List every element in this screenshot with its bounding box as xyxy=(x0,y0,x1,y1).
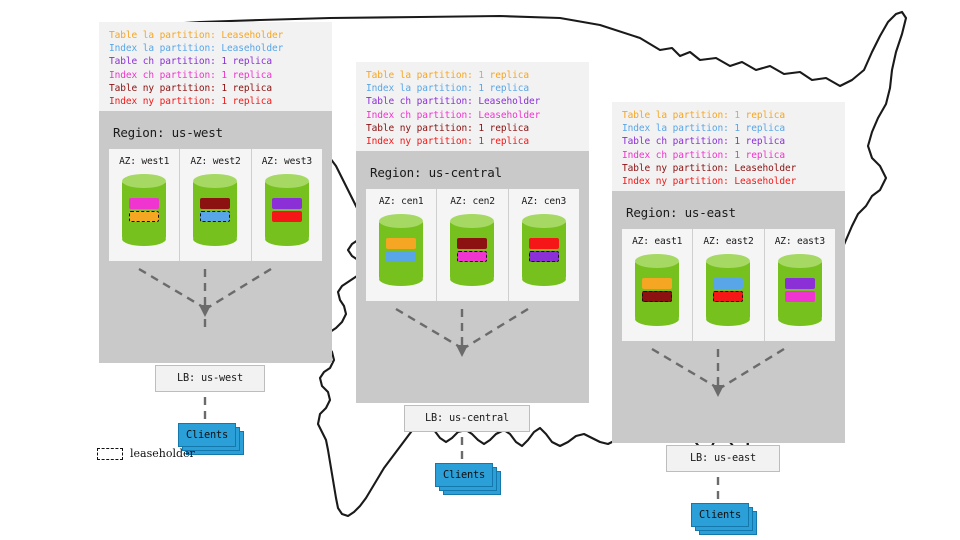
clients-box[interactable]: Clients xyxy=(691,503,749,527)
partition-stripe xyxy=(642,278,672,289)
az-cell-west3[interactable]: AZ: west3 xyxy=(252,149,322,261)
partition-stripe-leaseholder xyxy=(642,291,672,302)
region-box-us-central: Region: us-central AZ: cen1 AZ: cen2 xyxy=(356,151,589,403)
partition-stripe xyxy=(386,238,416,249)
az-strip-us-east: AZ: east1 AZ: east2 AZ: east3 xyxy=(622,229,835,341)
load-balancer-us-west[interactable]: LB: us-west xyxy=(155,365,265,392)
partition-stripe xyxy=(129,198,159,209)
connectors-us-central xyxy=(356,301,569,371)
az-strip-us-west: AZ: west1 AZ: west2 AZ: west3 xyxy=(109,149,322,261)
legend-line: Index la partition: Leaseholder xyxy=(109,42,322,55)
edge-az1-to-lb xyxy=(652,349,716,387)
region-title: Region: us-central xyxy=(366,161,579,189)
database-cylinder[interactable] xyxy=(122,174,166,246)
arrowhead-lb xyxy=(199,305,211,317)
clients-box[interactable]: Clients xyxy=(435,463,493,487)
region-cluster-us-east: Table la partition: 1 replica Index la p… xyxy=(612,102,845,443)
az-cell-cen1[interactable]: AZ: cen1 xyxy=(366,189,437,301)
region-box-us-west: Region: us-west AZ: west1 AZ: west2 xyxy=(99,111,332,363)
database-cylinder[interactable] xyxy=(379,214,423,286)
az-cell-west1[interactable]: AZ: west1 xyxy=(109,149,180,261)
legend-panel-us-east: Table la partition: 1 replica Index la p… xyxy=(612,102,845,191)
partition-stripe xyxy=(785,278,815,289)
database-cylinder[interactable] xyxy=(265,174,309,246)
clients-stack-us-central[interactable]: Clients xyxy=(435,463,501,493)
partition-stripes xyxy=(635,254,679,326)
az-cell-cen2[interactable]: AZ: cen2 xyxy=(437,189,508,301)
partition-stripe-leaseholder xyxy=(529,251,559,262)
edge-az1-to-lb xyxy=(396,309,460,347)
legend-line: Table ch partition: Leaseholder xyxy=(366,95,579,108)
az-label: AZ: west1 xyxy=(119,156,169,167)
partition-stripes xyxy=(706,254,750,326)
legend-line: Table la partition: 1 replica xyxy=(622,109,835,122)
region-box-us-east: Region: us-east AZ: east1 AZ: east2 xyxy=(612,191,845,443)
database-cylinder[interactable] xyxy=(522,214,566,286)
legend-line: Table la partition: 1 replica xyxy=(366,69,579,82)
partition-stripes xyxy=(265,174,309,246)
partition-stripes xyxy=(778,254,822,326)
legend-line: Index la partition: 1 replica xyxy=(622,122,835,135)
region-cluster-us-central: Table la partition: 1 replica Index la p… xyxy=(356,62,589,403)
arrowhead-lb xyxy=(456,345,468,357)
partition-stripe-leaseholder xyxy=(457,251,487,262)
connectors-us-east xyxy=(612,341,825,411)
region-title: Region: us-east xyxy=(622,201,835,229)
edge-az1-to-lb xyxy=(139,269,203,307)
legend-line: Index ny partition: Leaseholder xyxy=(622,175,835,188)
connectors-us-west xyxy=(99,261,312,331)
az-cell-east1[interactable]: AZ: east1 xyxy=(622,229,693,341)
partition-stripes xyxy=(450,214,494,286)
partition-stripe xyxy=(529,238,559,249)
az-label: AZ: west2 xyxy=(190,156,240,167)
clients-box[interactable]: Clients xyxy=(178,423,236,447)
az-label: AZ: cen3 xyxy=(522,196,567,207)
legend-line: Index ny partition: 1 replica xyxy=(366,135,579,148)
legend-line: Table ch partition: 1 replica xyxy=(109,55,322,68)
edge-az3-to-lb xyxy=(209,269,271,307)
database-cylinder[interactable] xyxy=(450,214,494,286)
partition-stripes xyxy=(122,174,166,246)
az-cell-west2[interactable]: AZ: west2 xyxy=(180,149,251,261)
legend-line: Index ny partition: 1 replica xyxy=(109,95,322,108)
legend-line: Table ny partition: 1 replica xyxy=(366,122,579,135)
partition-stripe xyxy=(785,291,815,302)
az-cell-east2[interactable]: AZ: east2 xyxy=(693,229,764,341)
partition-stripe-leaseholder xyxy=(129,211,159,222)
legend-line: Index ch partition: 1 replica xyxy=(622,149,835,162)
partition-stripe xyxy=(457,238,487,249)
database-cylinder[interactable] xyxy=(635,254,679,326)
az-cell-east3[interactable]: AZ: east3 xyxy=(765,229,835,341)
region-title: Region: us-west xyxy=(109,121,322,149)
database-cylinder[interactable] xyxy=(193,174,237,246)
az-cell-cen3[interactable]: AZ: cen3 xyxy=(509,189,579,301)
database-cylinder[interactable] xyxy=(778,254,822,326)
partition-stripe xyxy=(386,251,416,262)
az-strip-us-central: AZ: cen1 AZ: cen2 AZ: cen3 xyxy=(366,189,579,301)
legend-line: Table ny partition: 1 replica xyxy=(109,82,322,95)
az-label: AZ: cen1 xyxy=(379,196,424,207)
leaseholder-swatch-icon xyxy=(97,448,123,460)
az-label: AZ: east2 xyxy=(703,236,753,247)
partition-stripe-leaseholder xyxy=(713,291,743,302)
legend-line: Index la partition: 1 replica xyxy=(366,82,579,95)
edge-az3-to-lb xyxy=(722,349,784,387)
az-label: AZ: east3 xyxy=(775,236,825,247)
partition-stripes xyxy=(379,214,423,286)
partition-stripe-leaseholder xyxy=(200,211,230,222)
partition-stripe xyxy=(713,278,743,289)
legend-line: Index ch partition: Leaseholder xyxy=(366,109,579,122)
clients-stack-us-east[interactable]: Clients xyxy=(691,503,757,533)
leaseholder-legend-label: leaseholder xyxy=(130,447,195,460)
legend-panel-us-central: Table la partition: 1 replica Index la p… xyxy=(356,62,589,151)
legend-line: Index ch partition: 1 replica xyxy=(109,69,322,82)
partition-stripes xyxy=(193,174,237,246)
partition-stripes xyxy=(522,214,566,286)
partition-stripe xyxy=(200,198,230,209)
load-balancer-us-central[interactable]: LB: us-central xyxy=(404,405,530,432)
partition-stripe xyxy=(272,198,302,209)
region-cluster-us-west: Table la partition: Leaseholder Index la… xyxy=(99,22,332,363)
legend-line: Table la partition: Leaseholder xyxy=(109,29,322,42)
edge-az3-to-lb xyxy=(466,309,528,347)
legend-line: Table ch partition: 1 replica xyxy=(622,135,835,148)
load-balancer-us-east[interactable]: LB: us-east xyxy=(666,445,780,472)
az-label: AZ: cen2 xyxy=(450,196,495,207)
legend-line: Table ny partition: Leaseholder xyxy=(622,162,835,175)
database-cylinder[interactable] xyxy=(706,254,750,326)
arrowhead-lb xyxy=(712,385,724,397)
az-label: AZ: west3 xyxy=(262,156,312,167)
az-label: AZ: east1 xyxy=(632,236,682,247)
legend-panel-us-west: Table la partition: Leaseholder Index la… xyxy=(99,22,332,111)
partition-stripe xyxy=(272,211,302,222)
leaseholder-legend: leaseholder xyxy=(97,447,195,460)
